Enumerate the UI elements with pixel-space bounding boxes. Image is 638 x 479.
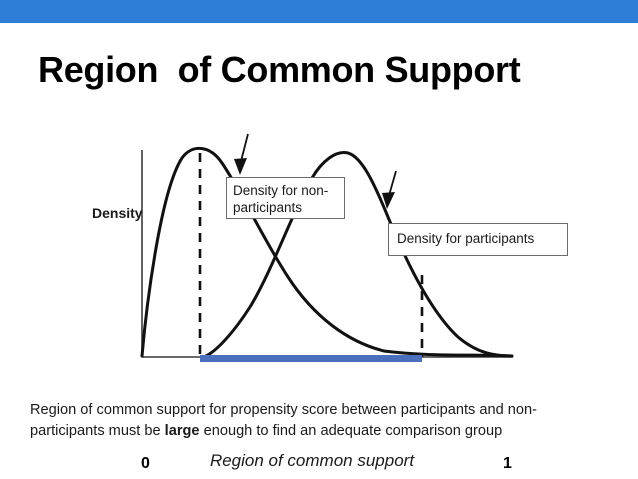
caption-part-two: enough to find an adequate comparison gr… xyxy=(200,423,503,439)
header-accent-bar xyxy=(0,0,638,23)
caption-emphasis: large xyxy=(165,423,200,439)
region-of-common-support-caption: Region of common support xyxy=(196,451,428,471)
density-chart-figure: Density Density for non-participants Den… xyxy=(0,85,638,400)
x-axis-start-label: 0 xyxy=(141,455,150,473)
x-axis-end-label: 1 xyxy=(503,455,512,473)
callout-density-for-participants: Density for participants xyxy=(388,223,568,256)
page-title: Region of Common Support xyxy=(38,50,520,90)
region-of-common-support-bar xyxy=(200,355,422,362)
callout-arrow-non-participants-head xyxy=(234,158,247,175)
slide-canvas: Region of Common Support Density Density… xyxy=(0,0,638,479)
y-axis-label: Density xyxy=(92,205,143,221)
callout-density-for-non-participants: Density for non-participants xyxy=(226,177,345,219)
slide-body-caption: Region of common support for propensity … xyxy=(30,400,610,442)
